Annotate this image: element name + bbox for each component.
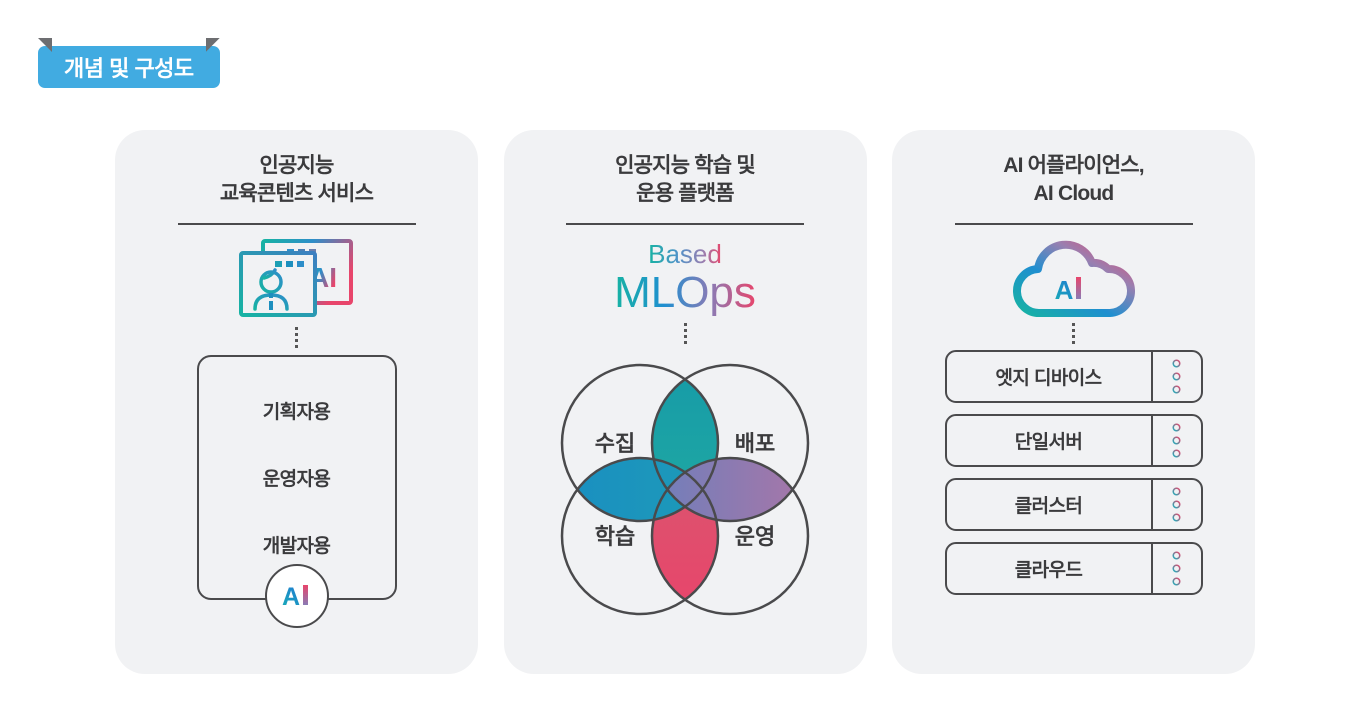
led-indicator-icon [1172,359,1181,368]
role-item: 개발자용 [263,531,331,558]
rack-label: 엣지 디바이스 [947,363,1151,390]
led-indicator-icon [1172,513,1181,522]
card-divider [566,223,804,225]
connector-dots [1072,323,1075,344]
rack-item[interactable]: 단일서버 [945,414,1203,467]
rack-led-group [1151,416,1201,465]
venn-label: 수집 [595,431,635,456]
card-title: AI 어플라이언스,AI Cloud [1003,152,1144,207]
cloud-ai-icon: A [1004,237,1144,323]
banner-ribbon: 개념 및 구성도 [38,46,220,88]
rack-label: 클러스터 [947,491,1151,518]
venn-diagram: 수집 배포 학습 운영 [535,348,835,643]
mlops-logo: Based MLOps [595,235,775,323]
diagram-page: 개념 및 구성도 인공지능교육콘텐츠 서비스 [0,0,1347,708]
cards-row: 인공지능교육콘텐츠 서비스 [115,130,1255,674]
card-ai-platform: 인공지능 학습 및운용 플랫폼 [504,130,867,674]
browser-person-ai-icon: AI [237,237,357,327]
venn-label: 운영 [735,524,775,549]
led-indicator-icon [1172,500,1181,509]
role-item: 기획자용 [263,397,331,424]
led-indicator-icon [1172,564,1181,573]
role-item: 운영자용 [263,464,331,491]
rack-label: 단일서버 [947,427,1151,454]
led-indicator-icon [1172,551,1181,560]
card-title: 인공지능 학습 및운용 플랫폼 [615,152,755,207]
rack-item[interactable]: 엣지 디바이스 [945,350,1203,403]
section-banner: 개념 및 구성도 [38,38,220,88]
card-title: 인공지능교육콘텐츠 서비스 [220,152,373,207]
led-indicator-icon [1172,423,1181,432]
led-indicator-icon [1172,449,1181,458]
card-ai-appliance-cloud: AI 어플라이언스,AI Cloud [892,130,1255,674]
led-indicator-icon [1172,436,1181,445]
ai-badge: A [265,564,329,628]
svg-text:A: A [281,583,299,611]
led-indicator-icon [1172,487,1181,496]
card-divider [178,223,416,225]
rack-led-group [1151,480,1201,529]
led-indicator-icon [1172,372,1181,381]
rack-item[interactable]: 클러스터 [945,478,1203,531]
connector-dots [684,323,687,344]
rack-item[interactable]: 클라우드 [945,542,1203,595]
rack-list: 엣지 디바이스 단일서버 클러스터 [945,350,1203,595]
svg-text:A: A [1054,275,1073,305]
card-ai-education-service: 인공지능교육콘텐츠 서비스 [115,130,478,674]
banner-label: 개념 및 구성도 [64,51,194,83]
led-indicator-icon [1172,385,1181,394]
rack-led-group [1151,352,1201,401]
venn-label: 배포 [735,431,775,456]
venn-label: 학습 [595,524,635,549]
led-indicator-icon [1172,577,1181,586]
connector-dots [295,327,298,348]
mlops-logo-top: Based [648,239,722,269]
rack-label: 클라우드 [947,555,1151,582]
rack-led-group [1151,544,1201,593]
mlops-logo-main: MLOps [614,268,756,317]
card-divider [955,223,1193,225]
